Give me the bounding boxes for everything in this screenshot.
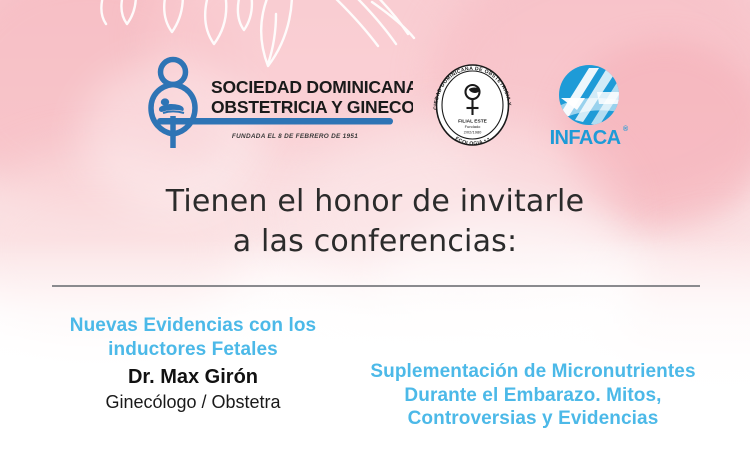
conference-invitation-flyer: SOCIEDAD DOMINICANA DE OBSTETRICIA Y GIN… <box>0 0 750 450</box>
conference-item: Nuevas Evidencias con los inductores Fet… <box>28 314 358 414</box>
conference-speaker: Dr. Max Girón <box>28 364 358 390</box>
society-logo-line1: SOCIEDAD DOMINICANA DE <box>211 77 413 97</box>
society-logo-founded: FUNDADA EL 8 DE FEBRERO DE 1951 <box>232 133 358 140</box>
headline-line-2: a las conferencias: <box>0 222 750 262</box>
logo-row: SOCIEDAD DOMINICANA DE OBSTETRICIA Y GIN… <box>0 56 750 152</box>
section-divider <box>52 285 700 287</box>
conference-list: Nuevas Evidencias con los inductores Fet… <box>0 300 750 450</box>
sociedad-dominicana-logo: SOCIEDAD DOMINICANA DE OBSTETRICIA Y GIN… <box>143 56 413 152</box>
society-logo-line2: OBSTETRICIA Y GINECOLOGÍA <box>211 96 413 117</box>
conference-item: Suplementación de Micronutrientes Durant… <box>368 360 698 431</box>
conference-title: Suplementación de Micronutrientes Durant… <box>368 360 698 431</box>
infaca-trademark-symbol: ® <box>623 125 629 133</box>
mother-and-baby-icon <box>159 98 184 113</box>
seal-center-line2: Fundado <box>465 124 482 129</box>
conference-title: Nuevas Evidencias con los inductores Fet… <box>28 314 358 361</box>
infaca-logo: INFACA ® <box>537 62 641 148</box>
infaca-emblem-icon <box>559 65 623 126</box>
infaca-wordmark: INFACA <box>550 127 621 148</box>
headline-line-1: Tienen el honor de invitarle <box>0 182 750 222</box>
sdog-seal-logo: SOCIEDAD DOMINICANA DE OBSTETRICIA Y GIN… <box>425 62 520 148</box>
seal-center-line3: 2/02/1980 <box>464 130 483 135</box>
conference-speaker-role: Ginecólogo / Obstetra <box>28 391 358 414</box>
invitation-headline: Tienen el honor de invitarle a las confe… <box>0 182 750 261</box>
